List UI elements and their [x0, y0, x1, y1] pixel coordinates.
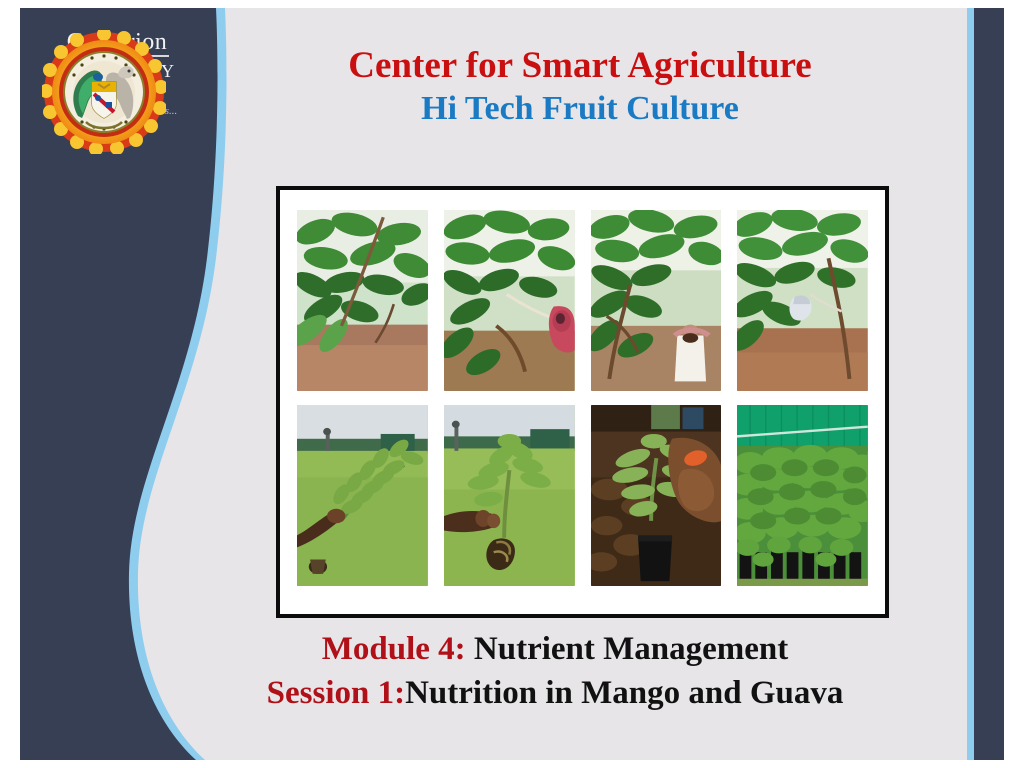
- photo-grid: [294, 208, 871, 588]
- page-subtitle: Hi Tech Fruit Culture: [230, 88, 930, 131]
- photo-3: [591, 210, 722, 391]
- photo-cell-5: [294, 403, 431, 588]
- photo-cell-6: [441, 403, 578, 588]
- page-title: Center for Smart Agriculture: [230, 44, 930, 88]
- module-caption: Module 4: Nutrient Management: [160, 628, 950, 672]
- photo-7: [591, 405, 722, 586]
- slide-root: Centurion UNIVERSITY Shaping Lives... Em…: [0, 0, 1024, 768]
- photo-cell-1: [294, 208, 431, 393]
- slide-canvas: Centurion UNIVERSITY Shaping Lives... Em…: [20, 8, 1004, 760]
- university-logo: Centurion UNIVERSITY Shaping Lives... Em…: [42, 30, 192, 119]
- session-title: Nutrition in Mango and Guava: [405, 675, 843, 711]
- session-caption: Session 1:Nutrition in Mango and Guava: [160, 672, 950, 716]
- photo-cell-7: [588, 403, 725, 588]
- module-label: Module 4:: [322, 631, 466, 667]
- photo-cell-8: [734, 403, 871, 588]
- photo-cell-3: [588, 208, 725, 393]
- photo-1: [297, 210, 428, 391]
- right-accent-stripe: [967, 8, 974, 760]
- slide-title-block: Center for Smart Agriculture Hi Tech Fru…: [230, 44, 930, 130]
- photo-4: [737, 210, 868, 391]
- left-sidebar: Centurion UNIVERSITY Shaping Lives... Em…: [20, 8, 250, 760]
- photo-8: [737, 405, 868, 586]
- centurion-crest-icon: [42, 30, 166, 154]
- slide-footer: Module 4: Nutrient Management Session 1:…: [160, 628, 950, 715]
- photo-cell-4: [734, 208, 871, 393]
- photo-board: [276, 186, 889, 618]
- photo-cell-2: [441, 208, 578, 393]
- photo-6: [444, 405, 575, 586]
- module-title: Nutrient Management: [466, 631, 789, 667]
- session-label: Session 1:: [267, 675, 405, 711]
- photo-2: [444, 210, 575, 391]
- photo-5: [297, 405, 428, 586]
- right-dark-bar: [974, 8, 1004, 760]
